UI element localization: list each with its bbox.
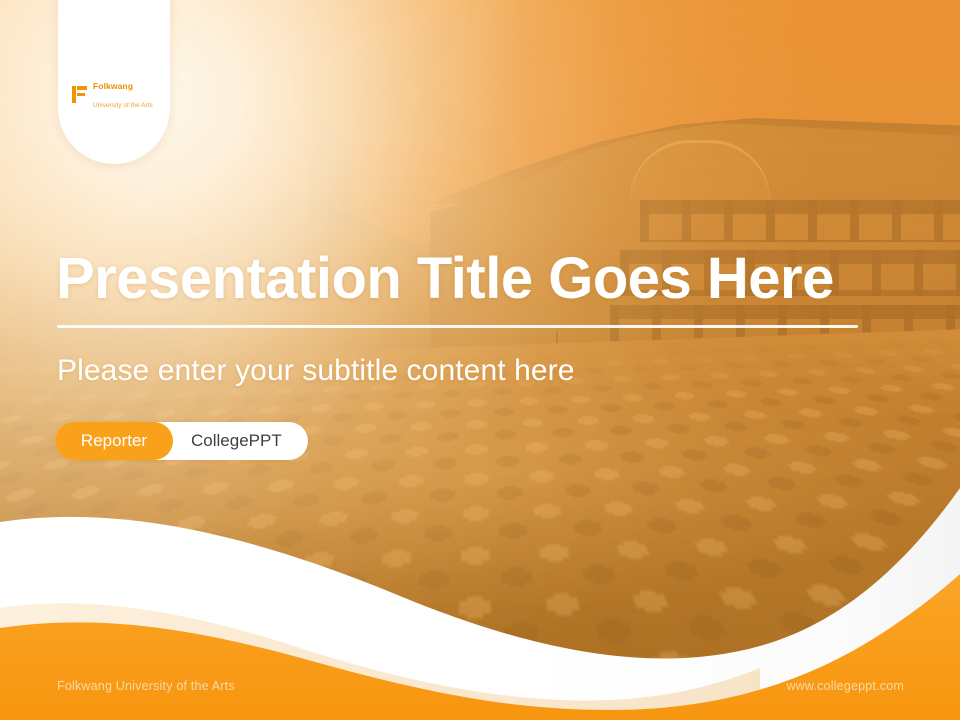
footer-website-url[interactable]: www.collegeppt.com [786,679,904,693]
university-logo-text: Folkwang University of the Arts [93,76,170,112]
folkwang-f-mark-icon [72,86,87,103]
reporter-pill[interactable]: Reporter CollegePPT [55,422,308,460]
university-logo-tab: Folkwang University of the Arts [58,0,170,164]
presentation-slide: Folkwang University of the Arts Presenta… [0,0,960,720]
university-name: Folkwang [93,81,133,91]
reporter-value: CollegePPT [173,431,304,451]
presentation-subtitle: Please enter your subtitle content here [57,354,575,388]
university-logo: Folkwang University of the Arts [72,76,170,112]
title-divider [57,325,858,328]
university-subtitle: University of the Arts [93,102,153,109]
footer-university-name: Folkwang University of the Arts [57,679,235,693]
reporter-label: Reporter [55,422,173,460]
presentation-title: Presentation Title Goes Here [56,248,916,311]
